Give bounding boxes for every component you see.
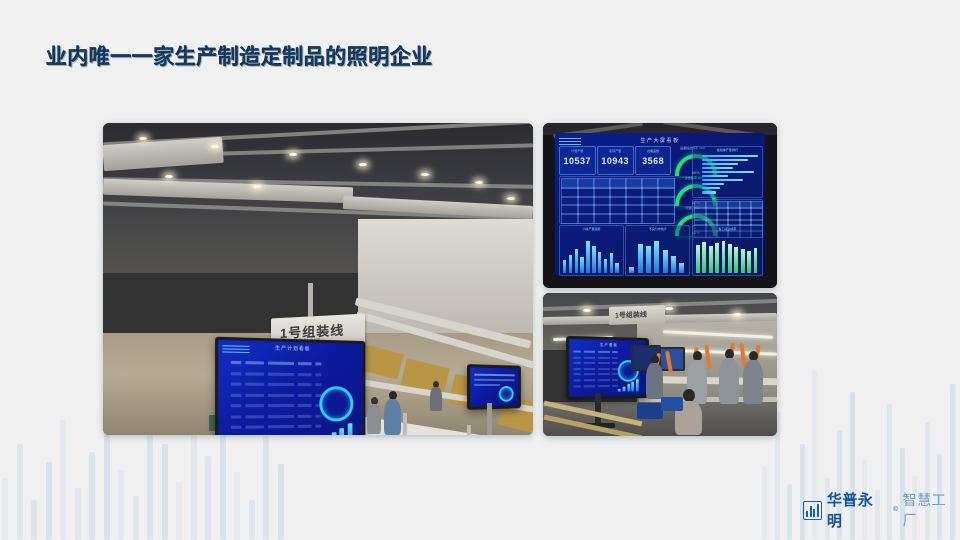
horizontal-bar xyxy=(702,171,754,174)
chart-bar xyxy=(654,241,659,273)
horizontal-bar xyxy=(702,191,716,194)
chart-bar xyxy=(598,252,601,273)
screen-table-cell xyxy=(298,414,312,417)
chart-bar xyxy=(754,248,758,273)
screen-donut-chart xyxy=(319,386,353,422)
decorative-bar xyxy=(17,444,23,540)
screen-bar xyxy=(622,387,625,392)
screen-table-cell xyxy=(612,357,618,359)
bar-chart-square-icon xyxy=(803,501,822,520)
decorative-bar xyxy=(162,444,168,540)
screen-table-cell xyxy=(298,394,312,397)
screen-table-cell xyxy=(298,362,312,365)
chart-bar xyxy=(629,267,634,273)
decorative-bar xyxy=(234,472,240,540)
decorative-bar xyxy=(263,436,269,540)
chart-bar xyxy=(586,241,589,273)
brand-logo: 华普永明 ® 智慧工厂 xyxy=(803,489,960,531)
screen-table-cell xyxy=(245,425,263,428)
screen-table-cell xyxy=(584,351,595,353)
screen-table-cell xyxy=(584,379,595,381)
screen-bar xyxy=(618,389,621,392)
screen-table-cell xyxy=(231,404,241,407)
screen-bar xyxy=(347,423,352,435)
screen-table-cell xyxy=(598,351,610,353)
secondary-board-screen xyxy=(467,364,521,410)
assembly-line-workers-photo: 1号组装线 生产看板 xyxy=(543,293,777,436)
screen-table-cell xyxy=(245,415,263,418)
chart-bar xyxy=(722,241,726,273)
screen-table-cell xyxy=(268,362,294,365)
screen-table-cell xyxy=(315,383,321,386)
horizontal-bar xyxy=(702,163,738,166)
horizontal-bar xyxy=(702,155,757,158)
screen-table-cell xyxy=(245,393,263,396)
chart-bar xyxy=(610,253,613,272)
screen-table-cell xyxy=(573,385,580,387)
gauge-chart: 一次合格率 FPY92% xyxy=(675,176,692,205)
screen-table-cell xyxy=(245,404,263,407)
workorder-grid-panel xyxy=(559,176,675,224)
decorative-bar xyxy=(89,452,95,540)
chart-bar xyxy=(615,263,618,273)
screen-table-cell xyxy=(298,373,312,376)
slide-canvas: 业内唯一一家生产制造定制品的照明企业 xyxy=(0,0,960,540)
screen-table-cell xyxy=(573,379,580,381)
brand-registered-mark: ® xyxy=(893,507,897,513)
chart-panel: 不良分布统计 xyxy=(625,225,690,276)
screen-bar xyxy=(332,432,337,435)
kpi-label: 计划产量 xyxy=(560,149,595,153)
chart-panel-title: 各工段达成率 xyxy=(693,227,763,231)
screen-table-cell xyxy=(231,383,241,386)
screen-table-cell xyxy=(268,425,294,428)
chart-bar xyxy=(709,246,713,273)
assembly-line-1-overview-photo: 1号组装线 Assembly line 生产计划看板 xyxy=(103,123,533,435)
decorative-bar xyxy=(118,470,124,540)
chart-bar xyxy=(734,247,738,273)
chart-panel: 各工段达成率 xyxy=(692,225,764,276)
decorative-bar xyxy=(205,456,211,540)
chart-bar xyxy=(563,260,566,273)
chart-bar xyxy=(575,249,578,273)
screen-table-cell xyxy=(268,404,294,407)
decorative-bar xyxy=(762,466,767,540)
screen-bar xyxy=(632,381,635,391)
screen-table-cell xyxy=(268,393,294,396)
screen-table-cell xyxy=(268,383,294,386)
screen-table-cell xyxy=(231,361,241,364)
screen-table-cell xyxy=(315,414,321,417)
kpi-label: 在制品数 xyxy=(636,149,671,153)
screen-table-cell xyxy=(612,362,618,364)
chart-bar xyxy=(663,250,668,273)
screen-table-cell xyxy=(573,368,580,370)
kpi-card: 计划产量10537 xyxy=(559,146,596,175)
workshop-line-sign: 1号组装线 xyxy=(609,305,665,325)
screen-table-cell xyxy=(584,385,595,387)
screen-table-cell xyxy=(268,372,294,375)
chart-bar xyxy=(569,255,572,273)
chart-bar xyxy=(580,257,583,272)
hbar-panel-title: 各线体产量排行 xyxy=(693,148,763,152)
chart-bar xyxy=(679,263,684,272)
decorative-bar xyxy=(31,500,37,540)
chart-bar xyxy=(671,256,676,273)
chart-bar xyxy=(696,245,700,273)
gauge-chart: 设备综合效率 OEE86% xyxy=(675,146,692,175)
brand-subtitle: 智慧工厂 xyxy=(903,490,960,530)
chart-bar xyxy=(741,249,745,272)
screen-table-cell xyxy=(298,404,312,407)
screen-table-cell xyxy=(245,372,263,375)
screen-logo-icon xyxy=(222,344,249,353)
screen-title: 生产计划看板 xyxy=(275,345,311,353)
screen-table-cell xyxy=(315,373,321,376)
kpi-card: 在制品数3568 xyxy=(635,146,672,175)
horizontal-bar xyxy=(702,167,733,170)
production-dashboard-screen: 生产大屏看板 计划产量10537实际产量10943在制品数3568 设备综合效率… xyxy=(555,133,766,277)
screen-table-cell xyxy=(573,362,580,364)
decorative-bar xyxy=(133,496,139,540)
decorative-bar xyxy=(46,462,52,540)
kpi-card: 实际产量10943 xyxy=(597,146,634,175)
horizontal-bar xyxy=(702,179,743,182)
screen-table-cell xyxy=(231,372,241,375)
production-dashboard-photo: 生产大屏看板 计划产量10537实际产量10943在制品数3568 设备综合效率… xyxy=(543,123,777,288)
screen-table-cell xyxy=(598,368,610,370)
workshop-screen-title: 生产看板 xyxy=(600,343,618,348)
chart-bar xyxy=(702,242,706,273)
screen-table-cell xyxy=(598,385,610,387)
screen-table-cell xyxy=(598,362,610,364)
screen-table-cell xyxy=(573,350,580,352)
chart-bar xyxy=(715,243,719,273)
decorative-bar xyxy=(191,428,197,540)
chart-bar xyxy=(728,244,732,273)
screen-table-cell xyxy=(231,415,241,418)
page-title: 业内唯一一家生产制造定制品的照明企业 xyxy=(46,41,433,71)
horizontal-bar xyxy=(702,187,719,190)
screen-table-cell xyxy=(298,425,312,428)
screen-bar xyxy=(636,379,639,392)
screen-bar xyxy=(339,428,344,435)
screen-table-cell xyxy=(573,356,580,358)
screen-table-cell xyxy=(245,383,263,386)
production-board-screen-main: 生产计划看板 xyxy=(215,337,365,435)
data-grid-cell xyxy=(657,213,675,224)
workshop-line-sign-text: 1号组装线 xyxy=(615,310,647,321)
screen-table-cell xyxy=(584,356,595,358)
hbar-panel: 各线体产量排行 xyxy=(692,146,764,198)
screen-table-cell xyxy=(598,379,610,381)
chart-panel-title: 小时产量趋势 xyxy=(560,227,623,231)
kpi-value: 10537 xyxy=(560,156,595,166)
decorative-bar xyxy=(278,464,284,540)
screen-table-cell xyxy=(231,393,241,396)
chart-bar xyxy=(638,244,643,272)
horizontal-bar xyxy=(702,159,748,162)
screen-table-cell xyxy=(231,426,241,429)
kpi-value: 10943 xyxy=(598,156,633,166)
chart-panel-title: 不良分布统计 xyxy=(626,227,689,231)
decorative-bar xyxy=(75,488,81,540)
brand-name: 华普永明 xyxy=(827,489,888,531)
chart-bar xyxy=(592,246,595,272)
chart-bar xyxy=(646,246,651,272)
decorative-bar xyxy=(176,482,182,540)
decorative-bar xyxy=(787,484,792,540)
screen-table-cell xyxy=(245,361,263,364)
screen-table-cell xyxy=(298,383,312,386)
kpi-label: 实际产量 xyxy=(598,149,633,153)
screen-table-cell xyxy=(584,368,595,370)
screen-table-cell xyxy=(612,351,618,353)
chart-panel: 小时产量趋势 xyxy=(559,225,624,276)
decorative-bar xyxy=(249,500,255,540)
dashboard-title: 生产大屏看板 xyxy=(555,137,766,144)
chart-bar xyxy=(747,251,751,272)
horizontal-bar xyxy=(702,183,724,186)
screen-bar xyxy=(627,384,630,392)
screen-table-cell xyxy=(315,362,321,365)
screen-table-cell xyxy=(268,414,294,417)
screen-table-cell xyxy=(598,356,610,358)
decorative-bar xyxy=(2,478,8,540)
chart-bar xyxy=(604,259,607,273)
horizontal-bar xyxy=(702,175,728,178)
screen-table-cell xyxy=(584,362,595,364)
decorative-bar xyxy=(60,420,66,540)
kpi-value: 3568 xyxy=(636,156,671,166)
